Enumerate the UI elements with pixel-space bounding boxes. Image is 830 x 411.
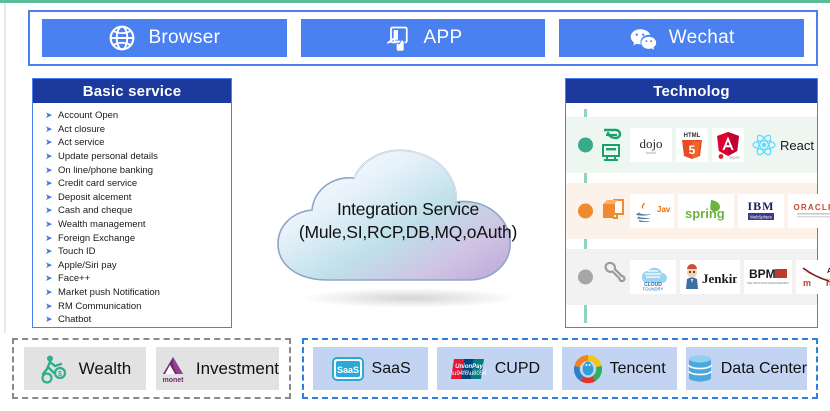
bullet-arrow-icon: ➤ <box>45 247 58 256</box>
svg-text:monet: monet <box>162 377 184 384</box>
svg-text:HTML: HTML <box>684 133 701 139</box>
svg-text:ave: ave <box>810 278 825 288</box>
bullet-arrow-icon: ➤ <box>45 315 58 324</box>
row-dot-devops <box>578 270 593 285</box>
tile-label: Tencent <box>610 360 666 378</box>
dojo-icon: dojo toolkit <box>633 133 669 157</box>
bullet-arrow-icon: ➤ <box>45 125 58 134</box>
bullet-arrow-icon: ➤ <box>45 261 58 270</box>
react-label: React <box>780 138 814 153</box>
wrench-icon <box>600 260 626 294</box>
list-item-label: On line/phone banking <box>58 165 153 176</box>
bullet-arrow-icon: ➤ <box>45 288 58 297</box>
list-item-label: Face++ <box>58 273 90 284</box>
logo-chip-dojo[interactable]: dojo toolkit <box>630 128 672 162</box>
channel-button-wechat[interactable]: Wechat <box>559 19 804 57</box>
bullet-arrow-icon: ➤ <box>45 166 58 175</box>
bullet-arrow-icon: ➤ <box>45 206 58 215</box>
logo-chip-html5[interactable]: HTML 5 <box>676 128 708 162</box>
channel-label: Browser <box>148 27 220 49</box>
list-item[interactable]: ➤Face++ <box>33 272 231 286</box>
svg-text:THE PROCESS MANAGEMENT: THE PROCESS MANAGEMENT <box>747 281 789 285</box>
architecture-diagram-page: Browser APP Wechat Basic serv <box>0 0 830 411</box>
list-item-label: Act closure <box>58 124 105 135</box>
external-partners-group: SaaS SaaS UnionPay \u94f6\u8054 CUPD <box>302 338 818 399</box>
bullet-arrow-icon: ➤ <box>45 220 58 229</box>
dojo-wordmark: dojo <box>639 136 662 151</box>
svg-text:\u94f6\u8054: \u94f6\u8054 <box>451 371 487 377</box>
bullet-arrow-icon: ➤ <box>45 274 58 283</box>
internal-systems-group: $ Wealth monet Investment <box>12 338 291 399</box>
tile-data-center[interactable]: Data Center <box>686 347 807 390</box>
svg-text:FOUNDRY: FOUNDRY <box>643 287 664 292</box>
bullet-arrow-icon: ➤ <box>45 234 58 243</box>
list-item[interactable]: ➤Apple/Siri pay <box>33 259 231 273</box>
tile-wealth[interactable]: $ Wealth <box>24 347 146 390</box>
technology-row-backend: Java spring IBM WebSphere <box>566 183 817 239</box>
svg-text:n: n <box>826 278 830 288</box>
database-icon <box>686 354 714 384</box>
list-item[interactable]: ➤Market push Notification <box>33 286 231 300</box>
list-item[interactable]: ➤On line/phone banking <box>33 163 231 177</box>
logo-chip-apache-maven[interactable]: Apache m ave n <box>796 260 830 294</box>
tile-saas[interactable]: SaaS SaaS <box>313 347 428 390</box>
oracle-icon: ORACLE <box>791 198 830 224</box>
svg-text:ORACLE: ORACLE <box>794 203 830 212</box>
monet-mountain-icon: monet <box>156 354 190 384</box>
logo-chip-bpm[interactable]: BPM THE PROCESS MANAGEMENT <box>744 260 792 294</box>
tile-label: SaaS <box>372 360 411 378</box>
channel-button-browser[interactable]: Browser <box>42 19 287 57</box>
row-dot-frontend <box>578 138 593 153</box>
list-item[interactable]: ➤Foreign Exchange <box>33 231 231 245</box>
logo-chip-jenkins[interactable]: Jenkins <box>680 260 740 294</box>
cloud-foundry-icon: CLOUD FOUNDRY <box>633 262 673 292</box>
svg-text:UnionPay: UnionPay <box>455 364 483 370</box>
bullet-arrow-icon: ➤ <box>45 111 58 120</box>
logo-chip-ibm-websphere[interactable]: IBM WebSphere <box>738 194 784 228</box>
list-item-label: Account Open <box>58 110 118 121</box>
list-item[interactable]: ➤Act service <box>33 136 231 150</box>
basic-service-panel: Basic service ➤Account Open ➤Act closure… <box>32 78 232 328</box>
bullet-arrow-icon: ➤ <box>45 152 58 161</box>
bullet-arrow-icon: ➤ <box>45 179 58 188</box>
svg-text:angular: angular <box>729 156 741 160</box>
wechat-icon <box>629 24 657 52</box>
list-item[interactable]: ➤RM Communication <box>33 299 231 313</box>
svg-text:WebSphere: WebSphere <box>750 214 773 219</box>
row-dot-backend <box>578 204 593 219</box>
server-screen-icon <box>600 194 626 228</box>
tile-label: Wealth <box>79 359 132 379</box>
apache-maven-icon: Apache m ave n <box>799 262 830 292</box>
list-item[interactable]: ➤Credit card service <box>33 177 231 191</box>
technology-body: dojo toolkit HTML 5 <box>566 103 817 329</box>
technology-title: Technolog <box>566 79 817 103</box>
technology-row-devops: CLOUD FOUNDRY Jenkins <box>566 249 817 305</box>
channel-label: APP <box>424 27 463 49</box>
tile-investment[interactable]: monet Investment <box>156 347 279 390</box>
browser-window-icon <box>600 128 626 162</box>
list-item-label: Act service <box>58 137 104 148</box>
list-item-label: Cash and cheque <box>58 205 132 216</box>
list-item[interactable]: ➤Cash and cheque <box>33 204 231 218</box>
logo-chip-oracle[interactable]: ORACLE <box>788 194 830 228</box>
list-item[interactable]: ➤Update personal details <box>33 150 231 164</box>
technology-row-frontend: dojo toolkit HTML 5 <box>566 117 817 173</box>
svg-text:toolkit: toolkit <box>646 150 657 155</box>
left-divider <box>4 3 6 333</box>
list-item[interactable]: ➤Act closure <box>33 123 231 137</box>
channel-bar: Browser APP Wechat <box>28 10 818 66</box>
svg-text:spring: spring <box>685 206 725 221</box>
list-item[interactable]: ➤Account Open <box>33 109 231 123</box>
bullet-arrow-icon: ➤ <box>45 193 58 202</box>
saas-icon: SaaS <box>331 356 365 382</box>
integration-service-cloud: Integration Service (Mule,SI,RCP,DB,MQ,o… <box>258 140 558 315</box>
tencent-penguin-icon <box>573 354 603 384</box>
technology-panel: Technolog dojo toolkit <box>565 78 818 328</box>
svg-text:Jenkins: Jenkins <box>702 271 737 286</box>
logo-chip-react[interactable]: React <box>748 128 817 162</box>
tile-label: Data Center <box>721 360 807 378</box>
angular-icon: angular <box>715 130 741 160</box>
mobile-touch-icon <box>384 24 412 52</box>
tile-label: CUPD <box>495 360 540 378</box>
list-item[interactable]: ➤Deposit alcement <box>33 191 231 205</box>
list-item-label: Apple/Siri pay <box>58 260 117 271</box>
top-divider <box>0 0 830 3</box>
html5-icon: HTML 5 <box>679 130 705 160</box>
svg-text:BPM: BPM <box>749 267 776 281</box>
channel-label: Wechat <box>669 27 735 49</box>
svg-text:5: 5 <box>689 143 696 157</box>
logo-chip-angular[interactable]: angular <box>712 128 744 162</box>
logo-chip-java[interactable]: Java <box>630 194 674 228</box>
list-item-label: Credit card service <box>58 178 137 189</box>
channel-button-app[interactable]: APP <box>301 19 546 57</box>
basic-service-list: ➤Account Open ➤Act closure ➤Act service … <box>33 103 231 327</box>
logo-chip-spring[interactable]: spring <box>678 194 734 228</box>
basic-service-title: Basic service <box>33 79 231 103</box>
svg-text:Java: Java <box>657 205 671 214</box>
wealth-gear-person-icon: $ <box>39 354 73 384</box>
list-item[interactable]: ➤Touch ID <box>33 245 231 259</box>
ibm-websphere-icon: IBM WebSphere <box>741 197 781 225</box>
svg-text:SaaS: SaaS <box>337 365 359 375</box>
list-item-label: Deposit alcement <box>58 192 131 203</box>
bullet-arrow-icon: ➤ <box>45 302 58 311</box>
list-item[interactable]: ➤Wealth management <box>33 218 231 232</box>
spring-icon: spring <box>681 198 731 224</box>
list-item-label: Update personal details <box>58 151 158 162</box>
cloud-shape-icon <box>258 140 558 315</box>
tile-cupd[interactable]: UnionPay \u94f6\u8054 CUPD <box>437 347 552 390</box>
list-item-label: Touch ID <box>58 246 96 257</box>
list-item-label: Market push Notification <box>58 287 160 298</box>
tile-tencent[interactable]: Tencent <box>562 347 677 390</box>
unionpay-icon: UnionPay \u94f6\u8054 <box>450 356 488 382</box>
list-item-label: RM Communication <box>58 301 141 312</box>
list-item-label: Wealth management <box>58 219 146 230</box>
logo-chip-cloud-foundry[interactable]: CLOUD FOUNDRY <box>630 260 676 294</box>
list-item[interactable]: ➤Chatbot <box>33 313 231 327</box>
svg-text:IBM: IBM <box>748 199 775 213</box>
list-item-label: Foreign Exchange <box>58 233 135 244</box>
list-item-label: Chatbot <box>58 314 91 325</box>
globe-icon <box>108 24 136 52</box>
tile-label: Investment <box>196 359 279 379</box>
java-icon: Java <box>633 198 671 224</box>
react-icon <box>751 133 777 157</box>
bpm-icon: BPM THE PROCESS MANAGEMENT <box>747 264 789 290</box>
jenkins-icon: Jenkins <box>683 263 737 291</box>
bullet-arrow-icon: ➤ <box>45 138 58 147</box>
svg-text:$: $ <box>58 371 62 378</box>
